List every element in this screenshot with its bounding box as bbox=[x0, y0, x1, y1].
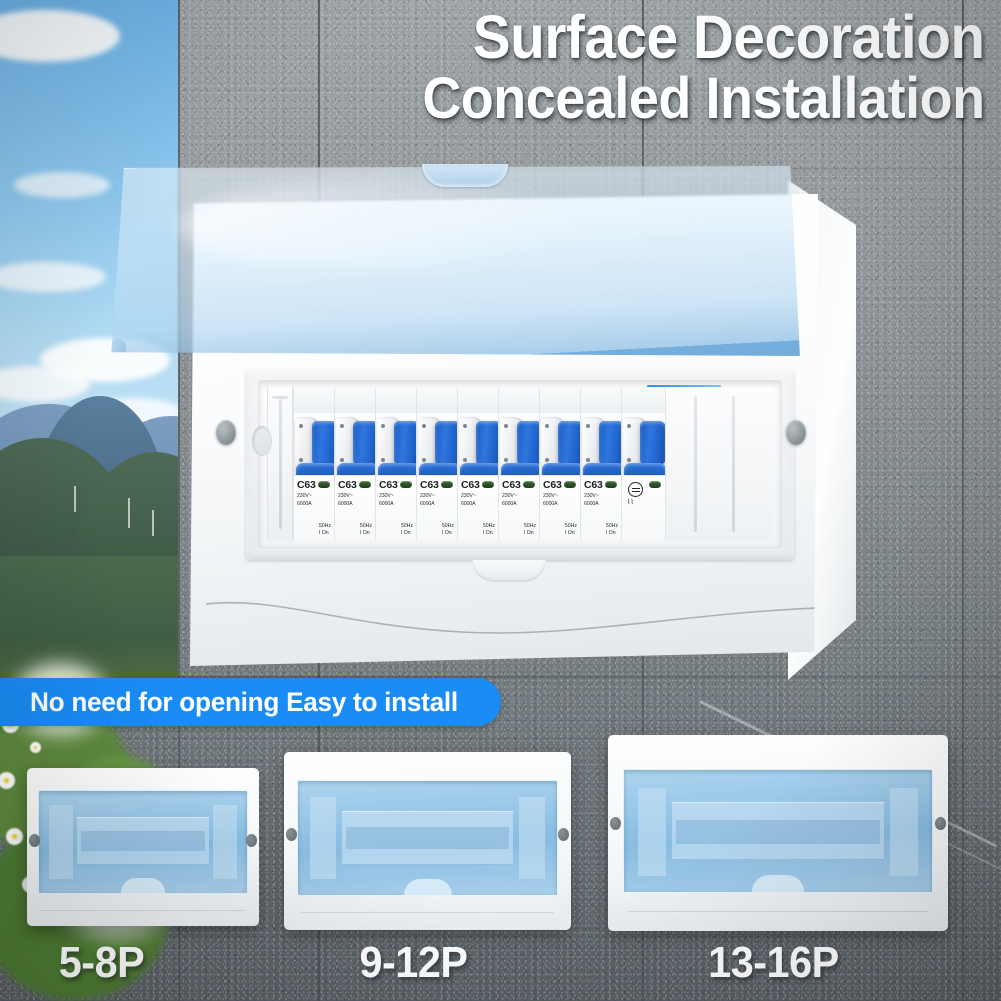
breaker-top bbox=[376, 387, 416, 413]
breaker-label: C63 230V~ 6000A 50Hz I On bbox=[540, 475, 580, 541]
earth-module[interactable]: ⌇⌇ bbox=[621, 387, 665, 541]
breaker-slot-core bbox=[81, 831, 205, 851]
breaker-position: I On bbox=[319, 530, 331, 537]
breaker-voltage: 230V~ bbox=[502, 493, 539, 500]
status-indicator-icon bbox=[441, 481, 453, 488]
earth-ground-icon bbox=[628, 482, 643, 497]
breaker-frequency: 50Hz bbox=[442, 523, 454, 530]
breaker-capacity: 6000A bbox=[543, 501, 580, 508]
breaker-label: C63 230V~ 6000A 50Hz I On bbox=[376, 475, 416, 541]
mounting-screw[interactable] bbox=[216, 420, 236, 445]
breaker-capacity: 6000A bbox=[379, 501, 416, 508]
breaker-well: C63 230V~ 6000A 50Hz I On bbox=[258, 380, 782, 548]
breaker-module[interactable]: C63 230V~ 6000A 50Hz I On bbox=[293, 387, 334, 541]
breaker-position: I On bbox=[401, 530, 413, 537]
breaker-voltage: 230V~ bbox=[297, 493, 334, 500]
status-indicator-icon bbox=[564, 481, 576, 488]
breaker-voltage: 230V~ bbox=[379, 493, 416, 500]
breaker-top bbox=[458, 387, 498, 413]
earth-squiggle-icon: ⌇⌇ bbox=[627, 500, 634, 506]
breaker-voltage: 230V~ bbox=[420, 493, 457, 500]
variant-thumb-9-12p[interactable] bbox=[284, 752, 571, 930]
breaker-top bbox=[335, 387, 375, 413]
breaker-freq-block: 50Hz I On bbox=[401, 523, 413, 537]
blank-filler-plate bbox=[665, 387, 773, 541]
side-screw[interactable] bbox=[29, 834, 40, 847]
cloud bbox=[14, 172, 110, 198]
breaker-lever-zone[interactable] bbox=[376, 413, 416, 475]
breaker-top bbox=[499, 387, 539, 413]
transmission-tower bbox=[128, 498, 130, 528]
breaker-freq-block: 50Hz I On bbox=[606, 523, 618, 537]
breaker-label: C63 230V~ 6000A 50Hz I On bbox=[294, 475, 334, 541]
window-notch[interactable] bbox=[121, 878, 165, 893]
transparent-door[interactable] bbox=[110, 166, 800, 356]
window-endcap bbox=[49, 805, 73, 879]
headline: Surface Decoration Concealed Installatio… bbox=[380, 8, 985, 126]
breaker-toggle[interactable] bbox=[640, 421, 666, 465]
breaker-capacity: 6000A bbox=[502, 501, 539, 508]
variant-window bbox=[623, 769, 933, 893]
breaker-label: C63 230V~ 6000A 50Hz I On bbox=[335, 475, 375, 541]
breaker-label: C63 230V~ 6000A 50Hz I On bbox=[458, 475, 498, 541]
breaker-label: C63 230V~ 6000A 50Hz I On bbox=[499, 475, 539, 541]
variant-window bbox=[297, 780, 558, 896]
status-indicator-icon bbox=[318, 481, 330, 488]
cover-notch-handle[interactable] bbox=[472, 560, 546, 582]
din-rail[interactable]: C63 230V~ 6000A 50Hz I On bbox=[267, 387, 773, 541]
status-indicator-icon bbox=[605, 481, 617, 488]
mounting-screw[interactable] bbox=[786, 420, 806, 445]
feature-banner-text: No need for opening Easy to install bbox=[30, 687, 458, 718]
breaker-frequency: 50Hz bbox=[360, 523, 372, 530]
breaker-position: I On bbox=[360, 530, 372, 537]
breaker-capacity: 6000A bbox=[420, 501, 457, 508]
breaker-voltage: 230V~ bbox=[543, 493, 580, 500]
breaker-position: I On bbox=[442, 530, 454, 537]
breaker-top bbox=[417, 387, 457, 413]
decorative-wave-line bbox=[301, 912, 554, 913]
headline-line-2: Concealed Installation bbox=[423, 71, 985, 127]
variant-thumb-13-16p[interactable] bbox=[608, 735, 948, 931]
window-notch[interactable] bbox=[752, 875, 804, 892]
status-indicator-icon bbox=[649, 481, 661, 488]
transmission-tower bbox=[152, 510, 154, 536]
breaker-frequency: 50Hz bbox=[524, 523, 536, 530]
feature-banner: No need for opening Easy to install bbox=[0, 678, 501, 726]
status-indicator-icon bbox=[482, 481, 494, 488]
breaker-lever-zone[interactable] bbox=[581, 413, 621, 475]
breaker-capacity: 6000A bbox=[297, 501, 334, 508]
breaker-frequency: 50Hz bbox=[565, 523, 577, 530]
side-screw[interactable] bbox=[610, 817, 621, 830]
window-notch[interactable] bbox=[404, 879, 452, 895]
window-endcap bbox=[638, 788, 666, 876]
side-screw[interactable] bbox=[558, 828, 569, 841]
blank-filler-plate bbox=[267, 387, 293, 541]
window-endcap bbox=[890, 788, 918, 876]
breaker-label: C63 230V~ 6000A 50Hz I On bbox=[581, 475, 621, 541]
breaker-module[interactable]: C63 230V~ 6000A 50Hz I On bbox=[580, 387, 621, 541]
breaker-frequency: 50Hz bbox=[401, 523, 413, 530]
breaker-top bbox=[622, 387, 665, 413]
breaker-freq-block: 50Hz I On bbox=[442, 523, 454, 537]
transmission-tower bbox=[74, 486, 76, 512]
breaker-freq-block: 50Hz I On bbox=[319, 523, 331, 537]
decorative-wave-line bbox=[628, 911, 927, 912]
breaker-bezel: C63 230V~ 6000A 50Hz I On bbox=[246, 370, 794, 560]
breaker-voltage: 230V~ bbox=[584, 493, 621, 500]
window-endcap bbox=[213, 805, 237, 879]
breaker-module[interactable]: C63 230V~ 6000A 50Hz I On bbox=[539, 387, 580, 541]
breaker-module[interactable]: C63 230V~ 6000A 50Hz I On bbox=[457, 387, 498, 541]
breaker-frequency: 50Hz bbox=[483, 523, 495, 530]
window-endcap bbox=[310, 797, 336, 879]
headline-line-1: Surface Decoration bbox=[423, 8, 985, 67]
breaker-freq-block: 50Hz I On bbox=[524, 523, 536, 537]
door-handle-tab[interactable] bbox=[422, 164, 508, 187]
variant-label-13-16p: 13-16P bbox=[708, 938, 839, 988]
variant-label-9-12p: 9-12P bbox=[359, 938, 467, 988]
side-screw[interactable] bbox=[286, 828, 297, 841]
variant-thumb-5-8p[interactable] bbox=[27, 768, 259, 926]
side-screw[interactable] bbox=[246, 834, 257, 847]
breaker-capacity: 6000A bbox=[338, 501, 375, 508]
side-screw[interactable] bbox=[935, 817, 946, 830]
breaker-module[interactable]: C63 230V~ 6000A 50Hz I On bbox=[334, 387, 375, 541]
status-indicator-icon bbox=[359, 481, 371, 488]
breaker-slot-core bbox=[346, 827, 509, 849]
breaker-voltage: 230V~ bbox=[461, 493, 498, 500]
status-indicator-icon bbox=[400, 481, 412, 488]
breaker-voltage: 230V~ bbox=[338, 493, 375, 500]
breaker-top bbox=[581, 387, 621, 413]
earth-label: ⌇⌇ bbox=[622, 475, 665, 541]
breaker-module[interactable]: C63 230V~ 6000A 50Hz I On bbox=[416, 387, 457, 541]
breaker-top bbox=[294, 387, 334, 413]
daisy-flower bbox=[6, 828, 23, 845]
status-indicator-icon bbox=[523, 481, 535, 488]
breaker-lever-zone[interactable] bbox=[540, 413, 580, 475]
decorative-wave-line bbox=[41, 910, 245, 911]
window-endcap bbox=[519, 797, 545, 879]
breaker-lever-zone[interactable] bbox=[458, 413, 498, 475]
variant-label-5-8p: 5-8P bbox=[59, 938, 144, 988]
breaker-module[interactable]: C63 230V~ 6000A 50Hz I On bbox=[498, 387, 539, 541]
door-reflection bbox=[179, 181, 579, 268]
breaker-lever-zone[interactable] bbox=[622, 413, 665, 475]
breaker-position: I On bbox=[524, 530, 536, 537]
main-distribution-box[interactable]: C63 230V~ 6000A 50Hz I On bbox=[176, 168, 856, 673]
cable-knockout bbox=[252, 426, 272, 456]
breaker-module[interactable]: C63 230V~ 6000A 50Hz I On bbox=[375, 387, 416, 541]
variant-window bbox=[38, 790, 248, 894]
breaker-freq-block: 50Hz I On bbox=[565, 523, 577, 537]
breaker-lever-zone[interactable] bbox=[294, 413, 334, 475]
breaker-position: I On bbox=[606, 530, 618, 537]
daisy-flower bbox=[30, 742, 41, 753]
breaker-position: I On bbox=[483, 530, 495, 537]
breaker-frequency: 50Hz bbox=[606, 523, 618, 530]
breaker-capacity: 6000A bbox=[584, 501, 621, 508]
breaker-freq-block: 50Hz I On bbox=[483, 523, 495, 537]
breaker-lever-zone[interactable] bbox=[499, 413, 539, 475]
breaker-frequency: 50Hz bbox=[319, 523, 331, 530]
breaker-slot-core bbox=[676, 820, 880, 844]
decorative-wave-line bbox=[206, 586, 816, 646]
breaker-lever-zone[interactable] bbox=[417, 413, 457, 475]
breaker-lever-zone[interactable] bbox=[335, 413, 375, 475]
breaker-capacity: 6000A bbox=[461, 501, 498, 508]
breaker-freq-block: 50Hz I On bbox=[360, 523, 372, 537]
breaker-position: I On bbox=[565, 530, 577, 537]
breaker-top bbox=[540, 387, 580, 413]
product-marketing-image: Surface Decoration Concealed Installatio… bbox=[0, 0, 1001, 1001]
breaker-label: C63 230V~ 6000A 50Hz I On bbox=[417, 475, 457, 541]
